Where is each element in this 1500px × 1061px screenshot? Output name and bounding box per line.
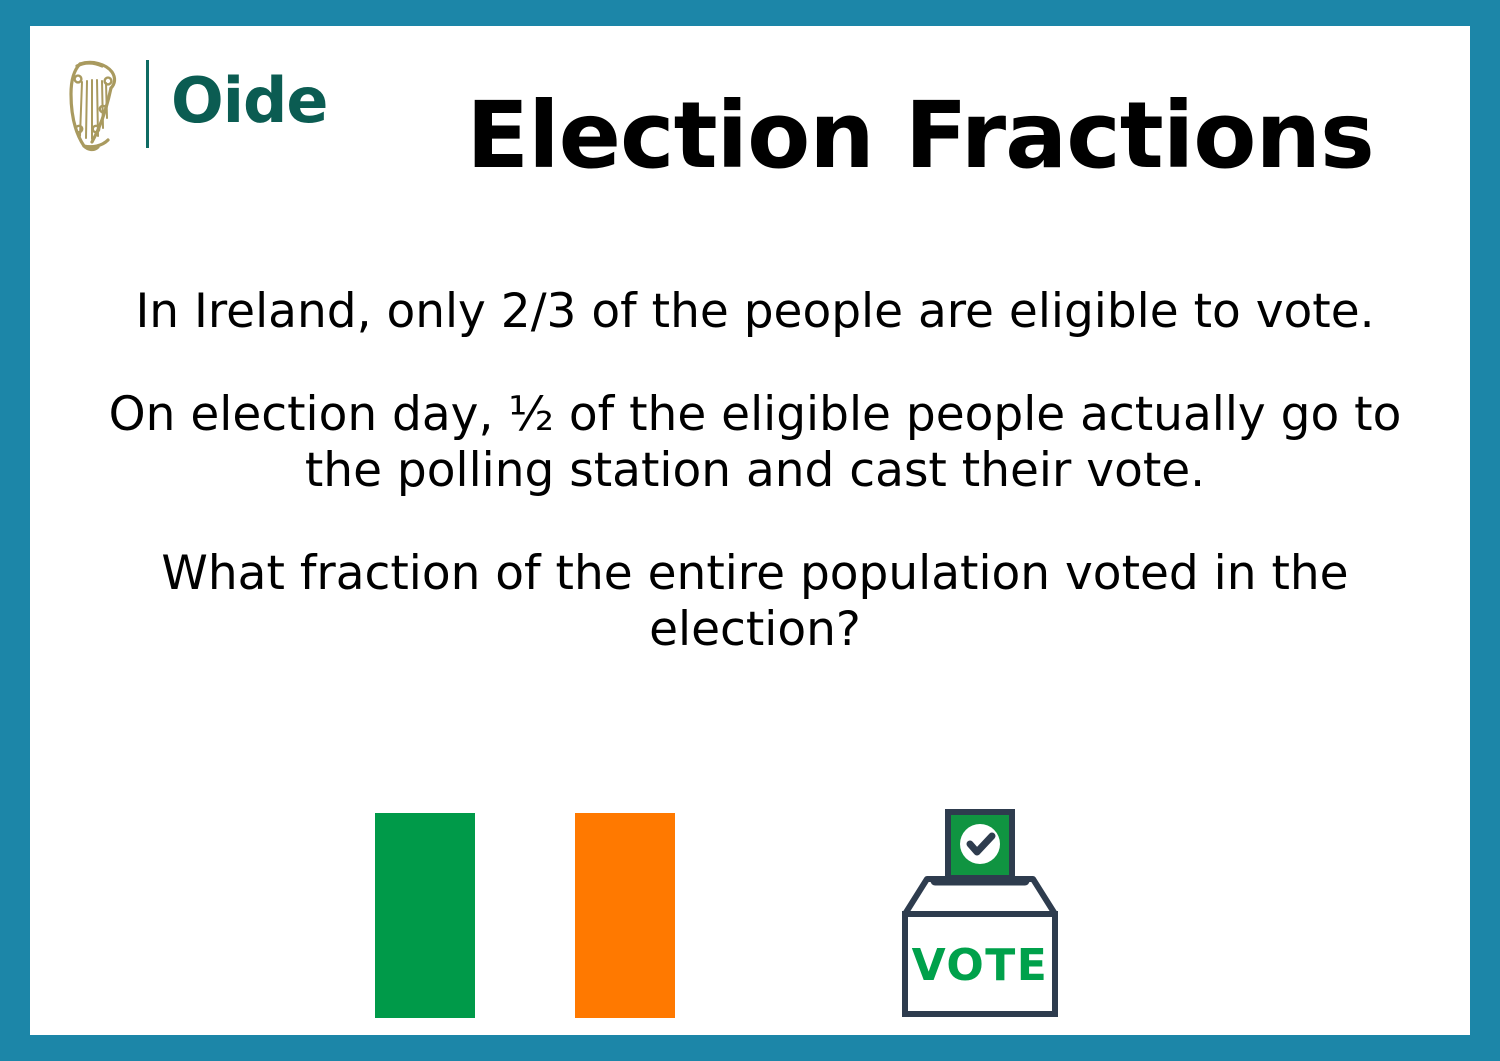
paragraph-eligibility: In Ireland, only 2/3 of the people are e… bbox=[90, 284, 1420, 339]
paragraph-turnout: On election day, ½ of the eligible peopl… bbox=[90, 387, 1420, 498]
slide-frame: Oide Election Fractions In Ireland, only… bbox=[0, 0, 1500, 1061]
body-copy: In Ireland, only 2/3 of the people are e… bbox=[90, 284, 1420, 657]
ballot-box-illustration: VOTE bbox=[880, 804, 1080, 1024]
oide-wordmark: Oide bbox=[171, 70, 327, 138]
vote-label: VOTE bbox=[912, 940, 1049, 991]
harp-icon bbox=[62, 54, 124, 154]
slide-card: Oide Election Fractions In Ireland, only… bbox=[30, 26, 1470, 1035]
paragraph-question: What fraction of the entire population v… bbox=[90, 546, 1420, 657]
ballot-paper bbox=[948, 812, 1012, 878]
irish-flag-orange-band bbox=[575, 813, 675, 1018]
page-title: Election Fractions bbox=[410, 88, 1430, 185]
oide-logo: Oide bbox=[62, 48, 327, 160]
logo-divider bbox=[146, 60, 149, 148]
irish-flag-green-band bbox=[375, 813, 475, 1018]
